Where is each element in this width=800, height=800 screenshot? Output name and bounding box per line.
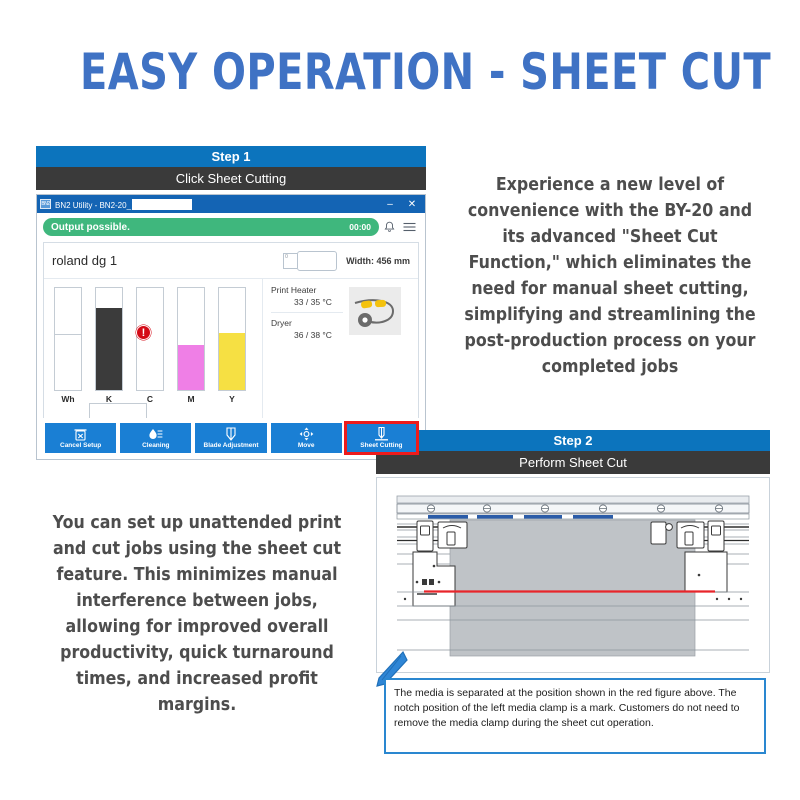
- blade-adjustment-icon: [225, 427, 237, 442]
- cleaning-droplet-icon: [148, 427, 163, 442]
- ink-tube: [218, 287, 246, 391]
- sheet-cutting-button[interactable]: Sheet Cutting: [346, 423, 417, 453]
- job-timer: 00:00: [349, 222, 371, 232]
- printer-header: roland dg 1 0 Width: 456 mm: [44, 243, 418, 279]
- app-icon: BN2: [40, 199, 51, 209]
- bell-icon[interactable]: [379, 218, 399, 236]
- poster-root: EASY OPERATION - SHEET CUT Step 1 Click …: [0, 0, 800, 800]
- print-heater-value: 33 / 35 °C: [277, 297, 349, 307]
- dryer-value: 36 / 38 °C: [277, 330, 349, 340]
- tool-button-label: Sheet Cutting: [360, 442, 402, 450]
- promo-paragraph: Experience a new level of convenience wi…: [457, 172, 763, 380]
- status-text: Output possible.: [51, 222, 130, 233]
- ink-tube: [95, 287, 123, 391]
- media-widget: 0 Width: 456 mm: [283, 251, 410, 271]
- ink-fill: [178, 345, 204, 390]
- dryer-label: Dryer: [271, 318, 349, 328]
- ink-cartridge-k: K: [95, 287, 123, 404]
- redacted-serial: [132, 199, 192, 210]
- step-2-panel: Step 2 Perform Sheet Cut: [376, 430, 770, 673]
- heater-divider: [271, 312, 343, 313]
- printer-sheet-cut-diagram: [376, 477, 770, 673]
- media-width-label: Width: 456 mm: [346, 256, 410, 266]
- ink-tube: [177, 287, 205, 391]
- ink-fill: [219, 333, 245, 390]
- ink-label: M: [177, 394, 205, 404]
- step-1-panel: Step 1 Click Sheet Cutting BN2 BN2 Utili…: [36, 146, 426, 460]
- ink-cartridge-wh: Wh: [54, 287, 82, 404]
- tool-button-label: Cancel Setup: [60, 442, 101, 450]
- hamburger-menu-icon[interactable]: [399, 218, 419, 236]
- ink-cartridge-y: Y: [218, 287, 246, 404]
- printer-toolbar: Cancel SetupCleaningBlade AdjustmentMove…: [37, 418, 425, 459]
- window-title: BN2 Utility - BN2-20_: [55, 199, 192, 210]
- ink-tube: [54, 287, 82, 391]
- ink-cartridge-c: C: [136, 287, 164, 404]
- blade-adjustment-button[interactable]: Blade Adjustment: [195, 423, 266, 453]
- tool-button-label: Cleaning: [142, 442, 169, 450]
- sheet-cut-note: The media is separated at the position s…: [384, 678, 766, 754]
- window-title-text: BN2 Utility - BN2-20_: [55, 201, 131, 210]
- step-1-label: Step 1: [36, 146, 426, 167]
- ink-fill: [96, 308, 122, 390]
- media-roll-box: [297, 251, 337, 271]
- ink-row: WhKCMY: [54, 287, 262, 404]
- step-2-label: Step 2: [376, 430, 770, 451]
- step-2-instruction: Perform Sheet Cut: [376, 451, 770, 474]
- heater-rows: Print Heater 33 / 35 °C Dryer 36 / 38 °C: [271, 285, 406, 340]
- printer-name: roland dg 1: [52, 253, 117, 268]
- ink-divider: [55, 334, 81, 335]
- ink-label: Y: [218, 394, 246, 404]
- print-heater-label: Print Heater: [271, 285, 349, 295]
- cancel-setup-button[interactable]: Cancel Setup: [45, 423, 116, 453]
- minimize-button[interactable]: –: [379, 195, 401, 213]
- move-crosshair-icon: [299, 427, 314, 442]
- cleaning-button[interactable]: Cleaning: [120, 423, 191, 453]
- ink-cartridge-m: M: [177, 287, 205, 404]
- close-button[interactable]: ✕: [401, 195, 423, 213]
- status-row: Output possible. 00:00: [37, 213, 425, 240]
- sheet-cutting-blade-icon: [374, 427, 389, 442]
- ink-alert-icon: !: [136, 325, 151, 340]
- media-chip: 0: [283, 253, 297, 269]
- tool-button-label: Blade Adjustment: [204, 442, 259, 450]
- bn2-utility-window: BN2 BN2 Utility - BN2-20_ – ✕ Output pos…: [36, 194, 426, 460]
- cancel-setup-icon: [74, 427, 87, 442]
- heater-readouts: Print Heater 33 / 35 °C Dryer 36 / 38 °C: [271, 285, 349, 340]
- move-button[interactable]: Move: [271, 423, 342, 453]
- status-badge: Output possible. 00:00: [43, 218, 379, 236]
- tool-button-label: Move: [298, 442, 315, 450]
- window-titlebar: BN2 BN2 Utility - BN2-20_ – ✕: [37, 195, 425, 213]
- benefits-paragraph: You can set up unattended print and cut …: [43, 510, 351, 718]
- step-1-instruction: Click Sheet Cutting: [36, 167, 426, 190]
- page-title: EASY OPERATION - SHEET CUT: [80, 44, 720, 100]
- media-path-heater-icon: [349, 287, 401, 335]
